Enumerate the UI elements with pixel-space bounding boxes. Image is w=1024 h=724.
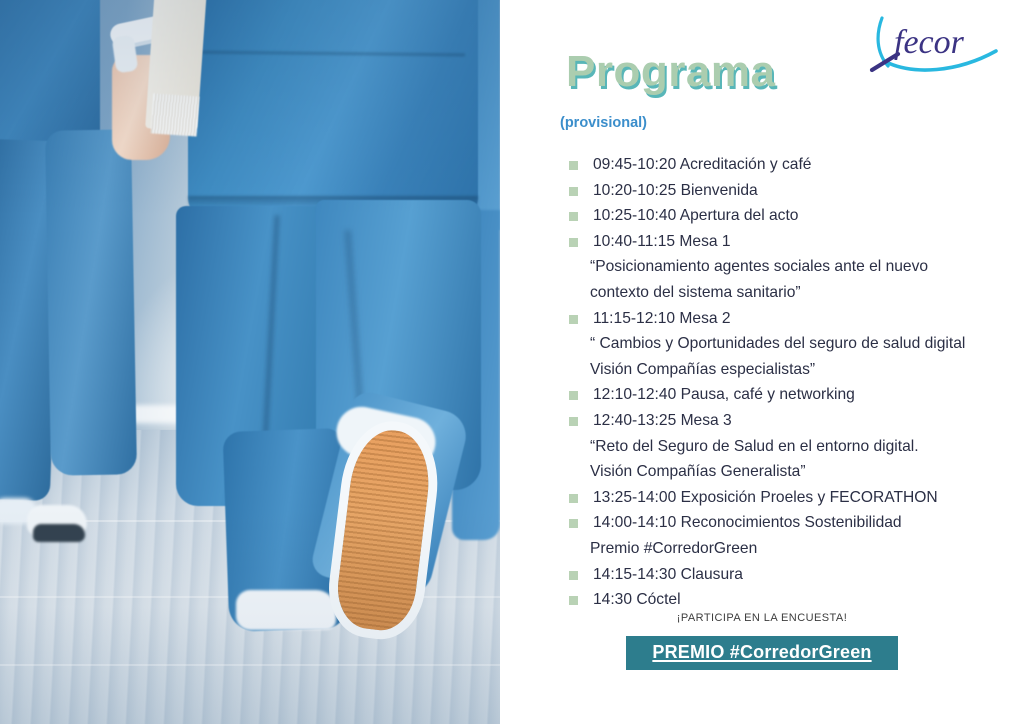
agenda-item-label: 10:40-11:15 Mesa 1 (593, 233, 731, 250)
agenda-item-label: 13:25-14:00 Exposición Proeles y FECORAT… (593, 489, 938, 506)
hospital-corridor-photo (0, 0, 500, 724)
agenda-item-label: “ Cambios y Oportunidades del seguro de … (590, 335, 965, 352)
agenda-item: 11:15-12:10 Mesa 2 (560, 306, 1010, 332)
agenda-item: 12:40-13:25 Mesa 3 (560, 408, 1010, 434)
bullet-square-icon (569, 391, 578, 400)
agenda-item: 10:40-11:15 Mesa 1 (560, 229, 1010, 255)
program-poster: fecor Programa (provisional) 09:45-10:20… (0, 0, 1024, 724)
agenda-item-label: 12:10-12:40 Pausa, café y networking (593, 386, 855, 403)
bullet-square-icon (569, 596, 578, 605)
nurse-left-torso (0, 0, 100, 150)
bullet-square-icon (569, 212, 578, 221)
bullet-square-icon (569, 571, 578, 580)
nurse-center-standing-shoe (236, 590, 336, 630)
agenda-list: 09:45-10:20 Acreditación y café10:20-10:… (560, 152, 1010, 613)
agenda-item-label: “Reto del Seguro de Salud en el entorno … (590, 438, 919, 455)
agenda-item: 12:10-12:40 Pausa, café y networking (560, 382, 1010, 408)
bullet-square-icon (569, 315, 578, 324)
agenda-item-label: “Posicionamiento agentes sociales ante e… (590, 258, 928, 275)
program-panel: fecor Programa (provisional) 09:45-10:20… (500, 0, 1024, 724)
bullet-square-icon (569, 238, 578, 247)
agenda-item-label: contexto del sistema sanitario” (590, 284, 801, 301)
bullet-square-icon (569, 187, 578, 196)
agenda-item-label: Visión Compañías especialistas” (590, 361, 815, 378)
agenda-item-label: 10:20-10:25 Bienvenida (593, 182, 758, 199)
agenda-item: 13:25-14:00 Exposición Proeles y FECORAT… (560, 485, 1010, 511)
agenda-item-continuation: Visión Compañías especialistas” (560, 357, 1010, 383)
agenda-item-continuation: “ Cambios y Oportunidades del seguro de … (560, 331, 1010, 357)
page-subtitle: (provisional) (560, 115, 647, 131)
floor-plank-line (0, 664, 500, 666)
bullet-square-icon (569, 494, 578, 503)
agenda-item-continuation: Visión Compañías Generalista” (560, 459, 1010, 485)
nurse-left-leg-right (45, 129, 137, 475)
bullet-square-icon (569, 161, 578, 170)
agenda-item-label: 14:30 Cóctel (593, 591, 681, 608)
page-title: Programa (566, 47, 775, 97)
agenda-item-label: 14:15-14:30 Clausura (593, 566, 743, 583)
agenda-item-label: 09:45-10:20 Acreditación y café (593, 156, 811, 173)
bullet-square-icon (569, 417, 578, 426)
agenda-item-label: Visión Compañías Generalista” (590, 463, 806, 480)
cta-wrapper: PREMIO #CorredorGreen (500, 636, 1024, 670)
agenda-item-continuation: Premio #CorredorGreen (560, 536, 1010, 562)
agenda-item-label: 14:00-14:10 Reconocimientos Sostenibilid… (593, 514, 902, 531)
fecor-logo: fecor (868, 14, 1000, 76)
premio-corredorgreen-button[interactable]: PREMIO #CorredorGreen (626, 636, 897, 670)
survey-note: ¡PARTICIPA EN LA ENCUESTA! (500, 612, 1024, 624)
agenda-item-continuation: contexto del sistema sanitario” (560, 280, 1010, 306)
agenda-item: 14:30 Cóctel (560, 587, 1010, 613)
white-folder-pages (151, 93, 200, 136)
agenda-item-label: 12:40-13:25 Mesa 3 (593, 412, 732, 429)
fecor-logo-text: fecor (894, 24, 965, 61)
agenda-item: 14:15-14:30 Clausura (560, 562, 1010, 588)
agenda-item-continuation: “Reto del Seguro de Salud en el entorno … (560, 434, 1010, 460)
agenda-item-continuation: “Posicionamiento agentes sociales ante e… (560, 254, 1010, 280)
agenda-item-label: 10:25-10:40 Apertura del acto (593, 207, 798, 224)
bullet-square-icon (569, 519, 578, 528)
agenda-item: 10:20-10:25 Bienvenida (560, 178, 1010, 204)
nurse-center-tunic (188, 0, 478, 223)
agenda-item: 09:45-10:20 Acreditación y café (560, 152, 1010, 178)
agenda-item: 14:00-14:10 Reconocimientos Sostenibilid… (560, 510, 1010, 536)
agenda-item-label: 11:15-12:10 Mesa 2 (593, 310, 731, 327)
agenda-item-label: Premio #CorredorGreen (590, 540, 757, 557)
agenda-item: 10:25-10:40 Apertura del acto (560, 203, 1010, 229)
nurse-left-shoe-sole (33, 524, 85, 542)
